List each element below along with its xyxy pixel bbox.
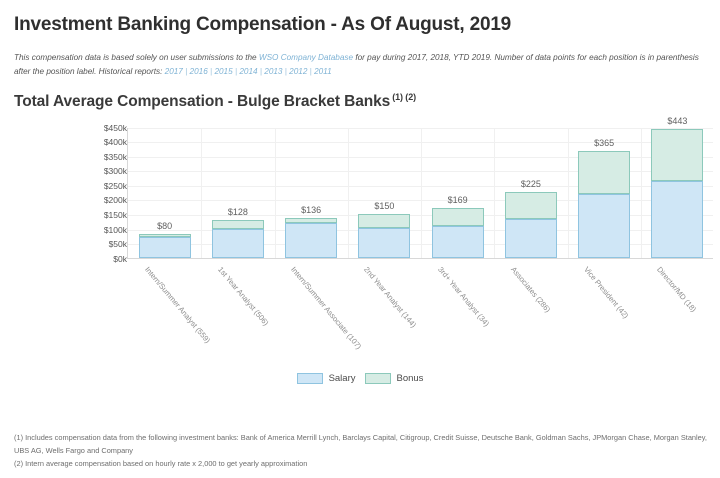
gridline-vertical <box>201 128 202 258</box>
bar-group[interactable]: $150 <box>358 214 410 258</box>
chart-title-text: Total Average Compensation - Bulge Brack… <box>14 94 390 111</box>
wso-company-database-link[interactable]: WSO Company Database <box>259 53 353 62</box>
bar-segment-salary[interactable] <box>285 223 337 258</box>
gridline-vertical <box>275 128 276 258</box>
salary-swatch-icon <box>297 373 323 384</box>
bar-group[interactable]: $80 <box>139 234 191 257</box>
report-page: Investment Banking Compensation - As Of … <box>0 14 720 478</box>
y-axis: $0k$50k$100k$150k$200k$250k$300k$350k$40… <box>14 128 127 259</box>
legend-item-salary[interactable]: Salary <box>297 373 356 384</box>
bar-segment-bonus[interactable] <box>651 129 703 181</box>
bar-segment-bonus[interactable] <box>285 218 337 223</box>
footnote-2: (2) Intern average compensation based on… <box>14 458 714 471</box>
x-axis-tick-label: Associates (286) <box>509 265 552 314</box>
gridline-vertical <box>641 128 642 258</box>
bar-total-label: $128 <box>228 207 248 217</box>
bar-total-label: $136 <box>301 205 321 215</box>
x-axis-tick-label: Intern/Summer Associate (107) <box>289 265 363 351</box>
bar-segment-salary[interactable] <box>505 219 557 258</box>
bar-total-label: $80 <box>157 221 172 231</box>
x-axis-tick-label: 3rd+ Year Analyst (34) <box>436 265 491 328</box>
gridline-vertical <box>348 128 349 258</box>
y-axis-tick-label: $200k <box>19 195 127 205</box>
intro-paragraph: This compensation data is based solely o… <box>14 51 704 80</box>
y-axis-tick-label: $0k <box>19 254 127 264</box>
history-link-2015[interactable]: 2015 <box>214 67 232 76</box>
history-link-2011[interactable]: 2011 <box>314 67 332 76</box>
x-axis-tick-label: Director/MD (18) <box>655 265 698 314</box>
history-link-separator: | <box>183 67 190 76</box>
page-title: Investment Banking Compensation - As Of … <box>14 14 706 37</box>
historical-report-links: 2017 | 2016 | 2015 | 2014 | 2013 | 2012 … <box>165 67 332 76</box>
legend-label-salary: Salary <box>329 373 356 384</box>
chart-title-superscript: (1) (2) <box>392 92 416 102</box>
y-axis-tick-label: $50k <box>19 239 127 249</box>
legend-item-bonus[interactable]: Bonus <box>365 373 424 384</box>
y-axis-tick-label: $250k <box>19 181 127 191</box>
bar-segment-bonus[interactable] <box>578 151 630 193</box>
gridline-vertical <box>421 128 422 258</box>
footnote-1: (1) Includes compensation data from the … <box>14 432 714 458</box>
x-axis-tick-label: 1st Year Analyst (506) <box>216 265 270 327</box>
bar-group[interactable]: $169 <box>432 208 484 257</box>
y-axis-tick-label: $100k <box>19 225 127 235</box>
history-link-2014[interactable]: 2014 <box>239 67 257 76</box>
bar-group[interactable]: $136 <box>285 218 337 258</box>
bar-segment-bonus[interactable] <box>358 214 410 228</box>
history-link-2016[interactable]: 2016 <box>190 67 208 76</box>
bar-group[interactable]: $128 <box>212 220 264 257</box>
x-axis-tick-label: Vice President (42) <box>582 265 630 320</box>
legend-label-bonus: Bonus <box>397 373 424 384</box>
bar-segment-salary[interactable] <box>578 194 630 258</box>
bar-total-label: $365 <box>594 138 614 148</box>
x-axis-tick-label: Intern/Summer Analyst (559) <box>143 265 212 345</box>
bonus-swatch-icon <box>365 373 391 384</box>
y-axis-tick-label: $350k <box>19 152 127 162</box>
bar-segment-salary[interactable] <box>432 226 484 258</box>
bar-segment-salary[interactable] <box>651 181 703 258</box>
bar-group[interactable]: $225 <box>505 192 557 258</box>
plot-area: $80$128$136$150$169$225$365$443 <box>127 128 713 259</box>
bar-segment-bonus[interactable] <box>432 208 484 225</box>
y-axis-tick-label: $400k <box>19 137 127 147</box>
bar-total-label: $150 <box>374 201 394 211</box>
compensation-bar-chart: $0k$50k$100k$150k$200k$250k$300k$350k$40… <box>14 118 706 403</box>
bar-group[interactable]: $443 <box>651 129 703 258</box>
gridline-vertical <box>494 128 495 258</box>
bar-segment-bonus[interactable] <box>139 234 191 236</box>
history-link-2012[interactable]: 2012 <box>289 67 307 76</box>
intro-text-before-link: This compensation data is based solely o… <box>14 53 259 62</box>
x-axis-tick-label: 2nd Year Analyst (144) <box>362 265 418 329</box>
history-link-2013[interactable]: 2013 <box>264 67 282 76</box>
bar-segment-salary[interactable] <box>358 228 410 258</box>
bar-segment-salary[interactable] <box>212 229 264 258</box>
bar-total-label: $169 <box>448 195 468 205</box>
bar-total-label: $225 <box>521 179 541 189</box>
bar-segment-bonus[interactable] <box>505 192 557 219</box>
y-axis-tick-label: $150k <box>19 210 127 220</box>
bar-segment-salary[interactable] <box>139 237 191 258</box>
bar-segment-bonus[interactable] <box>212 220 264 228</box>
chart-title: Total Average Compensation - Bulge Brack… <box>14 92 706 111</box>
chart-legend: Salary Bonus <box>14 373 706 384</box>
bar-total-label: $443 <box>667 116 687 126</box>
y-axis-tick-label: $450k <box>19 123 127 133</box>
footnotes: (1) Includes compensation data from the … <box>14 432 714 471</box>
history-link-2017[interactable]: 2017 <box>165 67 183 76</box>
gridline-vertical <box>568 128 569 258</box>
bar-group[interactable]: $365 <box>578 151 630 257</box>
y-axis-tick-label: $300k <box>19 166 127 176</box>
